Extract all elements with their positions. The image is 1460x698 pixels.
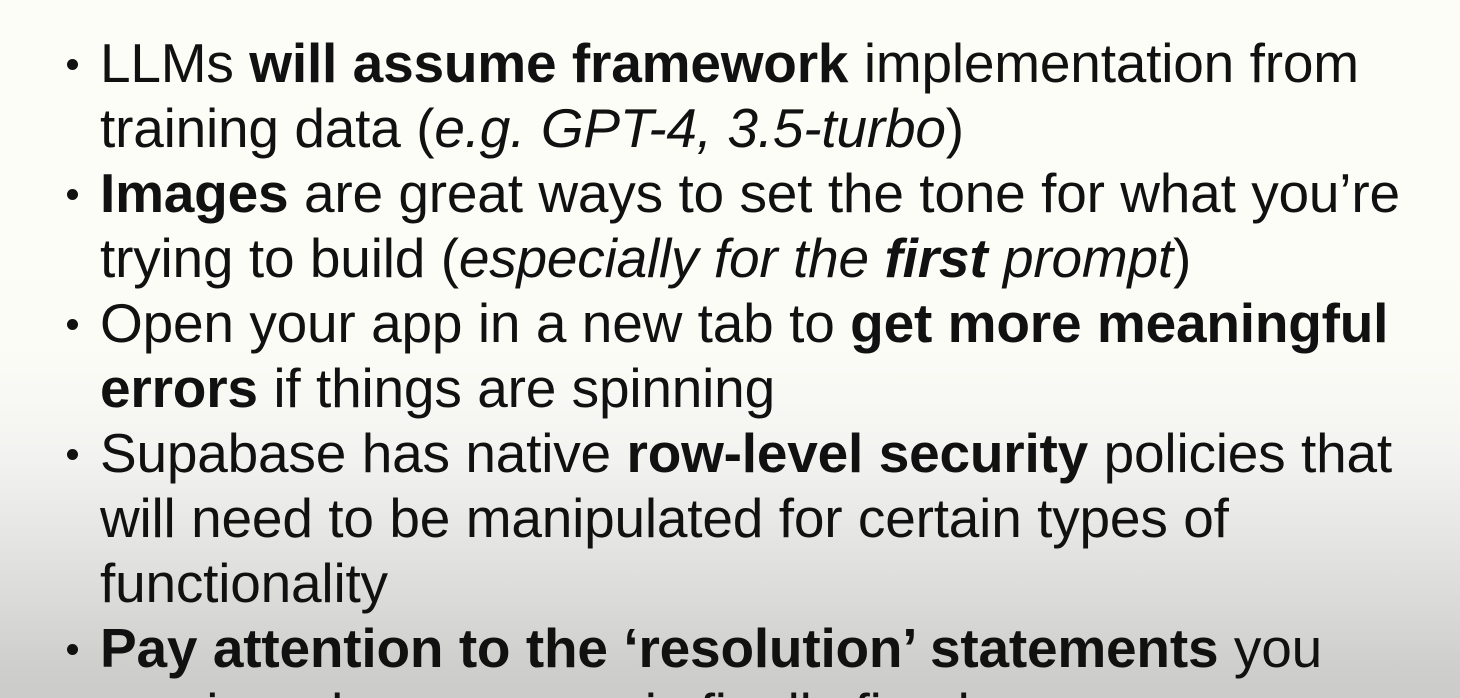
bullet-point-icon	[67, 421, 81, 486]
bullet-text: Images are great ways to set the tone fo…	[100, 161, 1450, 291]
bullet-text: LLMs will assume framework implementatio…	[100, 31, 1450, 161]
bullet-point-icon	[67, 31, 81, 96]
bullet-text: Pay attention to the ‘resolution’ statem…	[100, 616, 1450, 698]
list-item: Open your app in a new tab to get more m…	[0, 291, 1460, 421]
bullet-text: Supabase has native row-level security p…	[100, 421, 1450, 616]
bullet-point-icon	[67, 616, 81, 681]
bullet-list: LLMs will assume framework implementatio…	[0, 0, 1460, 698]
bullet-point-icon	[67, 161, 81, 226]
list-item: Supabase has native row-level security p…	[0, 421, 1460, 616]
bullet-text: Open your app in a new tab to get more m…	[100, 291, 1450, 421]
list-item: Pay attention to the ‘resolution’ statem…	[0, 616, 1460, 698]
list-item: Images are great ways to set the tone fo…	[0, 161, 1460, 291]
slide-canvas: LLMs will assume framework implementatio…	[0, 0, 1460, 698]
list-item: LLMs will assume framework implementatio…	[0, 31, 1460, 161]
bullet-point-icon	[67, 291, 81, 356]
